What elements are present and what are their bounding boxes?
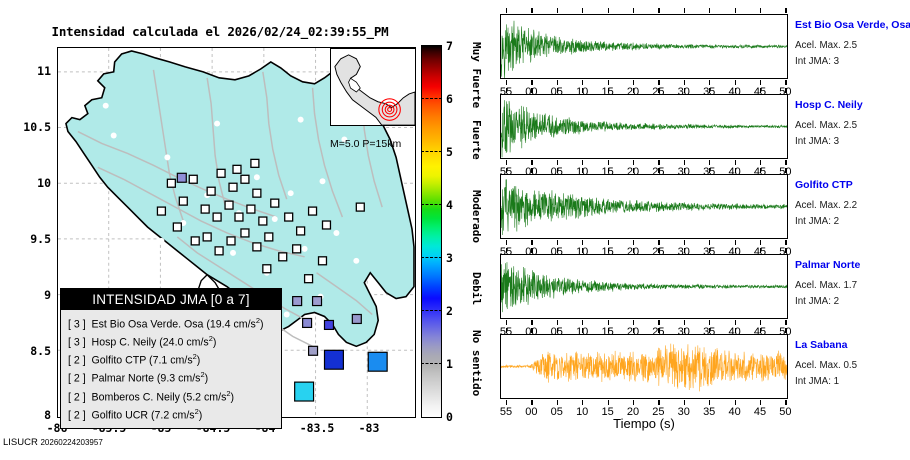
locator-inset-map[interactable] (330, 48, 416, 126)
map-x-tick: -83.5 (287, 421, 347, 435)
colorbar-category: Muy Fuerte (470, 42, 483, 108)
map-y-tick: 11 (11, 64, 51, 78)
waveform-tick-row (500, 8, 788, 13)
colorbar-tick: 7 (446, 39, 453, 53)
colorbar-tick: 3 (446, 251, 453, 265)
inset-geometry (331, 49, 415, 125)
waveform-panel[interactable] (500, 334, 788, 399)
legend-row: [ 2 ] Bomberos C. Neily (5.2 cm/s2) (68, 387, 281, 405)
page-title: Intensidad calculada el 2026/02/24_02:39… (0, 24, 440, 39)
station-name-label[interactable]: Golfito CTP (795, 179, 853, 191)
station-marker-neily (368, 352, 387, 371)
waveform-tick-row (500, 400, 788, 405)
station-name-label[interactable]: La Sabana (795, 339, 848, 351)
station-jma-value: Int JMA: 2 (795, 216, 839, 227)
colorbar-tick: 1 (446, 357, 453, 371)
legend-row: [ 2 ] Golfito UCR (7.2 cm/s2) (68, 405, 281, 423)
waveform-tick-row (500, 160, 788, 165)
legend-row: [ 3 ] Hosp C. Neily (24.0 cm/s2) (68, 332, 281, 350)
legend-row: [ 2 ] Golfito CTP (7.1 cm/s2) (68, 350, 281, 368)
colorbar-tick: 4 (446, 198, 453, 212)
footer-credit: LISUCR 20260224203957 (3, 437, 103, 448)
colorbar-tick: 5 (446, 145, 453, 159)
waveform-tick-row (500, 320, 788, 325)
waveform-panel[interactable] (500, 254, 788, 319)
waveform-tick-row (500, 80, 788, 85)
station-jma-value: Int JMA: 3 (795, 56, 839, 67)
station-accel-value: Acel. Max. 2.5 (795, 40, 857, 51)
map-y-tick: 8.5 (11, 344, 51, 358)
map-y-tick: 10 (11, 176, 51, 190)
waveform-panel[interactable] (500, 14, 788, 79)
station-accel-value: Acel. Max. 0.5 (795, 360, 857, 371)
legend-title: INTENSIDAD JMA [0 a 7] (61, 289, 281, 310)
waveform-trace (501, 335, 787, 398)
colorbar-category: Debil (470, 272, 483, 305)
waveform-panel[interactable] (500, 94, 788, 159)
legend-row: [ 2 ] Palmar Norte (9.3 cm/s2) (68, 368, 281, 386)
map-y-tick: 8 (11, 408, 51, 422)
intensity-legend: INTENSIDAD JMA [0 a 7] [ 3 ] Est Bio Osa… (60, 288, 282, 429)
waveform-trace (501, 95, 787, 158)
legend-row: [ 3 ] Est Bio Osa Verde. Osa (19.4 cm/s2… (68, 314, 281, 332)
agency-label: LISUCR (3, 437, 38, 448)
station-name-label[interactable]: Hosp C. Neily (795, 99, 863, 111)
station-jma-value: Int JMA: 2 (795, 296, 839, 307)
waveform-trace (501, 255, 787, 318)
station-accel-value: Acel. Max. 1.7 (795, 280, 857, 291)
colorbar-category: Fuerte (470, 120, 483, 160)
waveform-axis-title: Tiempo (s) (500, 416, 788, 431)
map-y-tick: 9 (11, 288, 51, 302)
station-jma-value: Int JMA: 3 (795, 136, 839, 147)
waveform-trace (501, 15, 787, 78)
station-jma-value: Int JMA: 1 (795, 376, 839, 387)
waveform-trace (501, 175, 787, 238)
station-name-label[interactable]: Palmar Norte (795, 259, 860, 271)
map-y-tick: 10.5 (11, 120, 51, 134)
waveform-tick-row (500, 88, 788, 93)
colorbar-category: Moderado (470, 190, 483, 243)
station-accel-value: Acel. Max. 2.2 (795, 200, 857, 211)
event-code: 20260224203957 (40, 438, 102, 447)
station-marker-golfito (295, 382, 314, 401)
station-accel-value: Acel. Max. 2.5 (795, 120, 857, 131)
colorbar-tick: 2 (446, 304, 453, 318)
waveform-tick-row (500, 248, 788, 253)
waveform-tick-row (500, 168, 788, 173)
colorbar-category: No sentido (470, 330, 483, 396)
waveform-tick-row (500, 240, 788, 245)
colorbar-tick: 6 (446, 92, 453, 106)
magnitude-depth-label: M=5.0 P=15km (330, 138, 422, 150)
waveform-tick-row (500, 328, 788, 333)
map-x-tick: -83 (339, 421, 399, 435)
map-y-tick: 9.5 (11, 232, 51, 246)
legend-list: [ 3 ] Est Bio Osa Verde. Osa (19.4 cm/s2… (61, 310, 281, 428)
station-marker-osa (324, 350, 343, 369)
station-name-label[interactable]: Est Bio Osa Verde, Osa (795, 19, 910, 31)
waveform-panel[interactable] (500, 174, 788, 239)
colorbar-tick: 0 (446, 410, 453, 424)
